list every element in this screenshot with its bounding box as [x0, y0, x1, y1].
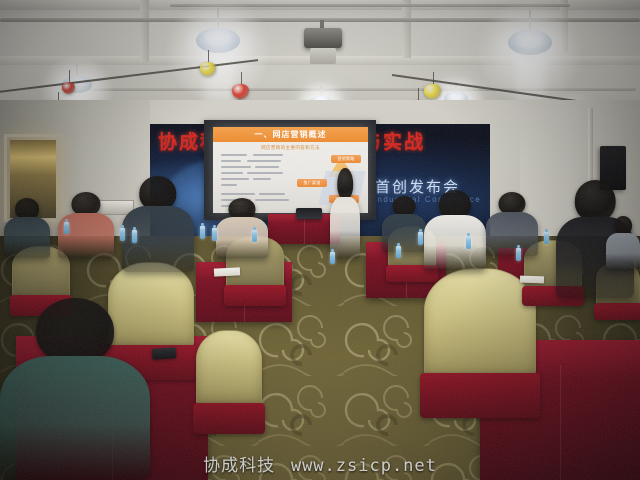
person-woman-center [216, 198, 268, 258]
handout-paper-right [520, 276, 544, 284]
chair-back [196, 330, 262, 407]
presenter-laptop [296, 208, 322, 219]
water-bottle [120, 228, 125, 241]
chair-seat [420, 373, 541, 418]
water-bottle [64, 222, 69, 234]
water-bottle [212, 228, 217, 241]
person-torso [424, 215, 486, 270]
person-right-far [606, 216, 640, 270]
mobile-phone-on-table [152, 347, 177, 360]
water-bottle [132, 230, 137, 243]
chair-seat [594, 303, 640, 320]
watermark: 协成科技 www.zsicp.net [0, 451, 640, 476]
person-torso [486, 212, 538, 256]
person-torso [330, 197, 360, 258]
person-right-stripe [486, 192, 538, 256]
watermark-url: www.zsicp.net [291, 456, 437, 476]
conference-photo: 协成科 与实战 下首创发布会 IT Industrial Conference … [0, 0, 640, 480]
person-speaker [330, 168, 360, 258]
chair-seat [224, 285, 287, 306]
chair-back [424, 268, 536, 379]
water-bottle [252, 230, 257, 242]
room-contents [0, 0, 640, 480]
person-left-edge [4, 198, 50, 258]
water-bottle [330, 252, 335, 264]
water-bottle [200, 226, 205, 239]
water-bottle [396, 246, 401, 258]
person-left-back [122, 176, 194, 272]
person-head [36, 298, 114, 364]
chair-right-1 [424, 268, 536, 418]
person-torso [216, 217, 268, 258]
person-right-white [424, 190, 486, 270]
chair-left-2 [196, 330, 262, 434]
person-torso [606, 233, 640, 270]
person-torso [4, 217, 50, 258]
water-bottle [418, 232, 423, 245]
handout-paper-left [214, 267, 240, 276]
water-bottle [516, 248, 521, 261]
water-bottle [466, 236, 471, 249]
watermark-company: 协成科技 [203, 456, 275, 476]
chair-seat [193, 403, 264, 434]
water-bottle [544, 232, 549, 244]
person-head [139, 176, 176, 211]
